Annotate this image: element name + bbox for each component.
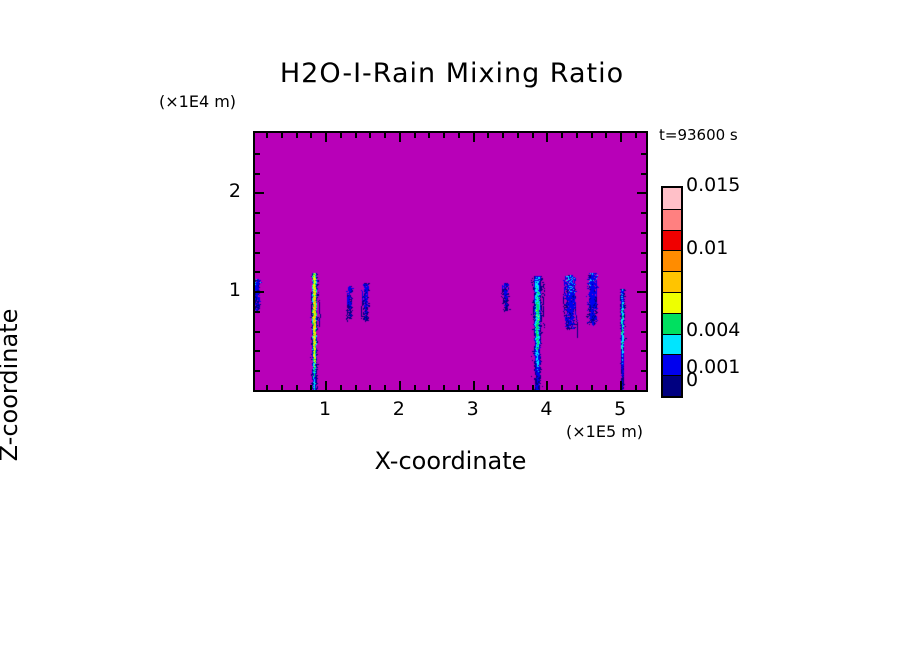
tick-mark <box>414 385 416 390</box>
tick-mark <box>310 385 312 390</box>
colorbar-tick-label: 0.004 <box>686 319 740 341</box>
colorbar-separator <box>663 230 681 231</box>
colorbar-separator <box>663 271 681 272</box>
colorbar-tick-label: 0 <box>686 369 698 391</box>
tick-mark <box>255 311 260 313</box>
tick-mark <box>532 133 534 138</box>
colorbar-band <box>663 375 681 396</box>
x-tick-label: 2 <box>379 398 419 420</box>
tick-mark <box>641 232 646 234</box>
colorbar-band <box>663 250 681 271</box>
colorbar-separator <box>663 354 681 355</box>
tick-mark <box>266 133 268 138</box>
tick-mark <box>414 133 416 138</box>
tick-mark <box>443 385 445 390</box>
colorbar-tick-label: 0.01 <box>686 237 728 259</box>
tick-mark <box>325 133 327 142</box>
colorbar-band <box>663 188 681 209</box>
tick-mark <box>641 311 646 313</box>
colorbar-separator <box>663 209 681 210</box>
y-axis-title: Z-coordinate <box>0 175 23 595</box>
tick-mark <box>428 133 430 138</box>
page-title: H2O-I-Rain Mixing Ratio <box>0 58 904 89</box>
tick-mark <box>641 370 646 372</box>
tick-mark <box>255 350 260 352</box>
colorbar-band <box>663 334 681 355</box>
tick-mark <box>281 385 283 390</box>
tick-mark <box>428 385 430 390</box>
tick-mark <box>355 385 357 390</box>
tick-mark <box>369 385 371 390</box>
tick-mark <box>620 381 622 390</box>
tick-mark <box>255 331 260 333</box>
colorbar-tick-label: 0.015 <box>686 174 740 196</box>
y-tick-label: 2 <box>201 180 241 202</box>
tick-mark <box>443 133 445 138</box>
tick-mark <box>641 212 646 214</box>
tick-mark <box>458 133 460 138</box>
tick-mark <box>255 153 260 155</box>
tick-mark <box>255 232 260 234</box>
tick-mark <box>255 271 260 273</box>
colorbar-separator <box>663 313 681 314</box>
tick-mark <box>473 381 475 390</box>
tick-mark <box>255 212 260 214</box>
tick-mark <box>517 385 519 390</box>
x-axis-unit-label: (×1E5 m) <box>566 422 643 441</box>
figure-canvas: H2O-I-Rain Mixing Ratio (×1E4 m) t=93600… <box>0 0 904 654</box>
tick-mark <box>591 385 593 390</box>
colorbar-band <box>663 209 681 230</box>
tick-mark <box>641 173 646 175</box>
colorbar-separator <box>663 292 681 293</box>
tick-mark <box>487 133 489 138</box>
tick-mark <box>502 133 504 138</box>
tick-mark <box>576 385 578 390</box>
tick-mark <box>255 291 264 293</box>
colorbar-band <box>663 313 681 334</box>
tick-mark <box>641 252 646 254</box>
tick-mark <box>517 133 519 138</box>
tick-mark <box>620 133 622 142</box>
tick-mark <box>266 385 268 390</box>
tick-mark <box>296 133 298 138</box>
z-axis-unit-label: (×1E4 m) <box>159 92 236 111</box>
tick-mark <box>561 133 563 138</box>
tick-mark <box>637 192 646 194</box>
tick-mark <box>561 385 563 390</box>
tick-mark <box>255 173 260 175</box>
x-tick-label: 3 <box>453 398 493 420</box>
tick-mark <box>340 385 342 390</box>
x-tick-label: 1 <box>305 398 345 420</box>
tick-mark <box>546 381 548 390</box>
tick-mark <box>605 385 607 390</box>
tick-mark <box>641 271 646 273</box>
x-tick-label: 5 <box>600 398 640 420</box>
tick-mark <box>310 133 312 138</box>
colorbar-band <box>663 292 681 313</box>
tick-mark <box>591 133 593 138</box>
colorbar-band <box>663 354 681 375</box>
tick-mark <box>340 133 342 138</box>
tick-mark <box>637 291 646 293</box>
tick-mark <box>532 385 534 390</box>
colorbar-separator <box>663 334 681 335</box>
tick-mark <box>399 381 401 390</box>
tick-mark <box>576 133 578 138</box>
colorbar-separator <box>663 375 681 376</box>
tick-mark <box>255 192 264 194</box>
time-stamp-annotation: t=93600 s <box>659 126 738 144</box>
tick-mark <box>384 385 386 390</box>
tick-mark <box>635 385 637 390</box>
x-tick-label: 4 <box>526 398 566 420</box>
tick-mark <box>369 133 371 138</box>
tick-mark <box>296 385 298 390</box>
tick-mark <box>399 133 401 142</box>
tick-mark <box>281 133 283 138</box>
tick-mark <box>487 385 489 390</box>
tick-mark <box>641 331 646 333</box>
tick-mark <box>458 385 460 390</box>
colorbar <box>661 186 683 398</box>
tick-mark <box>546 133 548 142</box>
tick-mark <box>641 350 646 352</box>
tick-mark <box>635 133 637 138</box>
colorbar-separator <box>663 250 681 251</box>
tick-mark <box>255 370 260 372</box>
colorbar-band <box>663 230 681 251</box>
tick-mark <box>473 133 475 142</box>
tick-mark <box>384 133 386 138</box>
colorbar-band <box>663 271 681 292</box>
tick-mark <box>325 381 327 390</box>
tick-mark <box>502 385 504 390</box>
tick-mark <box>355 133 357 138</box>
rain-field-heatmap <box>255 133 646 390</box>
tick-mark <box>605 133 607 138</box>
plot-area <box>253 131 648 392</box>
y-tick-label: 1 <box>201 279 241 301</box>
tick-mark <box>641 153 646 155</box>
x-axis-title: X-coordinate <box>253 447 648 475</box>
tick-mark <box>255 252 260 254</box>
